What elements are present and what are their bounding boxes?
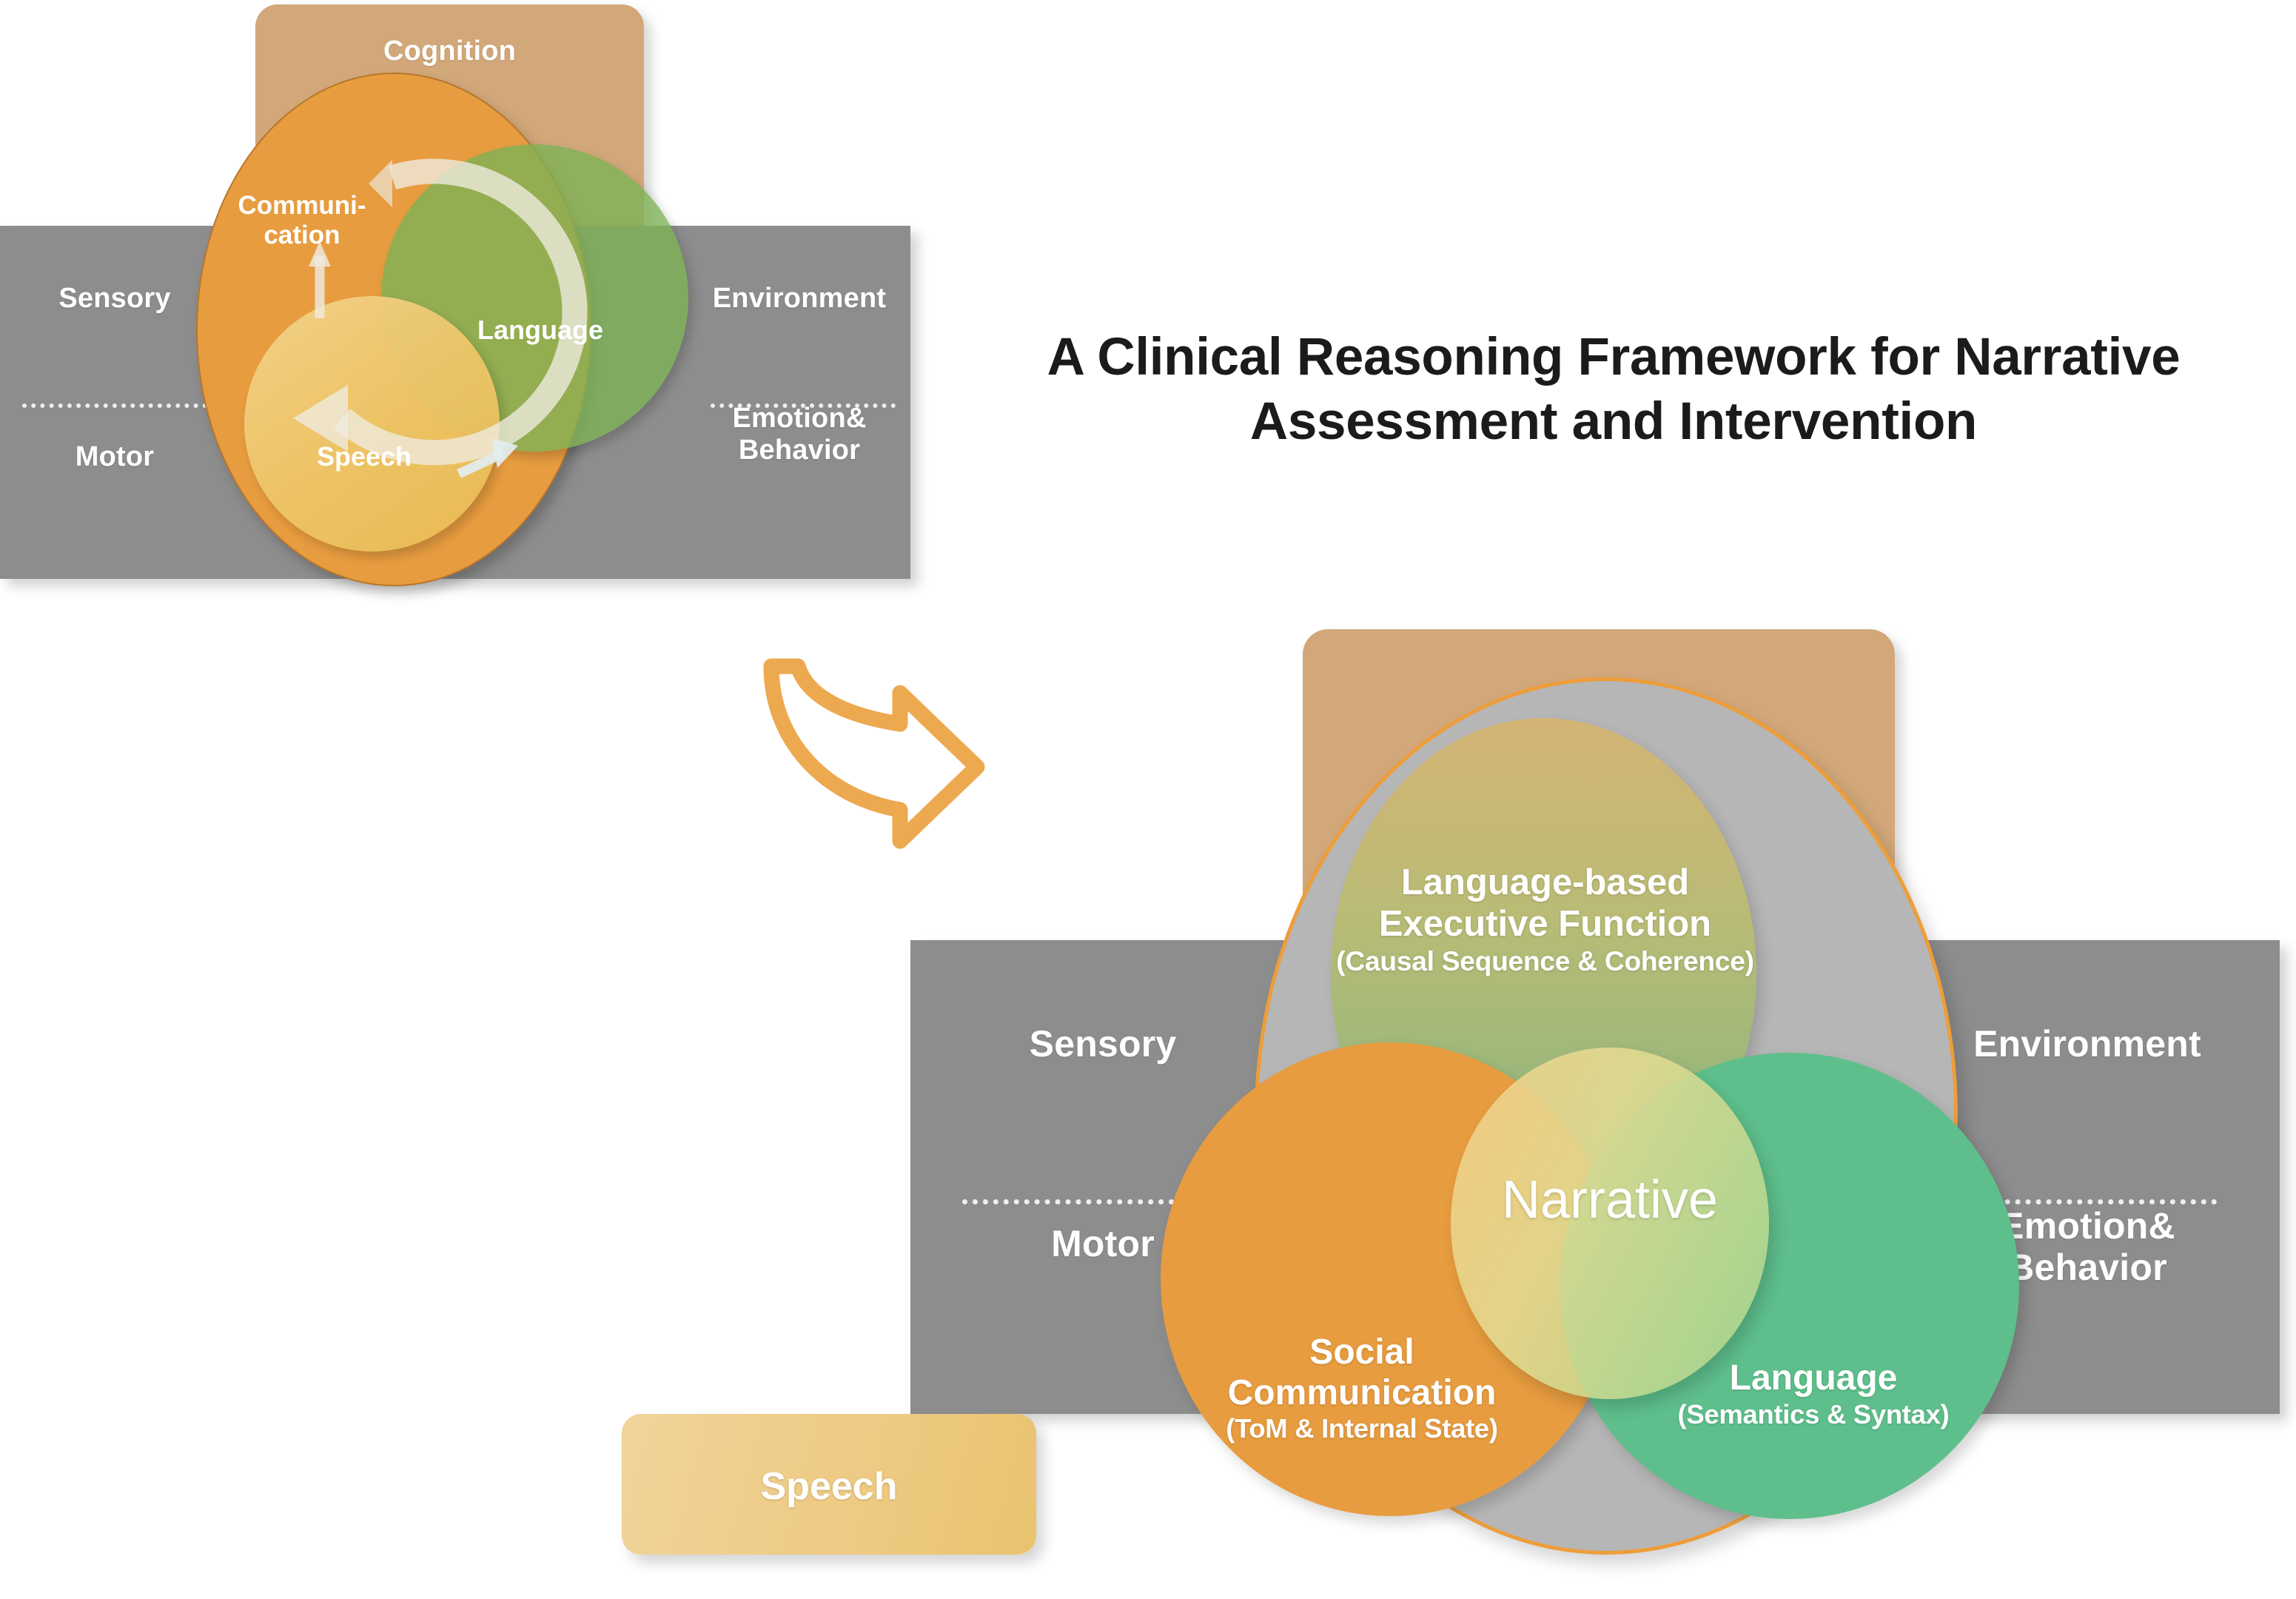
lbef-subtitle: (Causal Sequence & Coherence) [1310, 945, 1780, 976]
communication-text-small: Communi- cation [206, 191, 398, 250]
speech-text-small: Speech [268, 441, 460, 472]
speech-label-big: Speech [622, 1464, 1036, 1509]
figure-canvas: Cognition Sensory Motor Environment Emot… [0, 0, 2296, 1599]
social-communication-title: Social Communication [1228, 1332, 1497, 1412]
expanded-framework-diagram: Cognition Sensory Motor Environment Emot… [851, 607, 2296, 1599]
small-framework-diagram: Cognition Sensory Motor Environment Emot… [0, 0, 925, 614]
social-communication-subtitle: (ToM & Internal State) [1144, 1413, 1580, 1444]
language-title: Language [1730, 1358, 1898, 1398]
language-text-block: Language (Semantics & Syntax) [1621, 1358, 2006, 1429]
lbef-text-block: Language-based Executive Function (Causa… [1310, 862, 1780, 976]
cycle-arrows-small [0, 0, 925, 614]
lbef-title: Language-based Executive Function [1379, 862, 1711, 944]
sensory-label-big: Sensory [947, 1023, 1258, 1065]
figure-title: A Clinical Reasoning Framework for Narra… [962, 326, 2265, 454]
language-subtitle: (Semantics & Syntax) [1621, 1399, 2006, 1430]
language-text-small: Language [452, 315, 629, 346]
social-communication-text-block: Social Communication (ToM & Internal Sta… [1144, 1332, 1580, 1444]
environment-label-big: Environment [1928, 1023, 2246, 1065]
narrative-label: Narrative [1451, 1170, 1769, 1230]
